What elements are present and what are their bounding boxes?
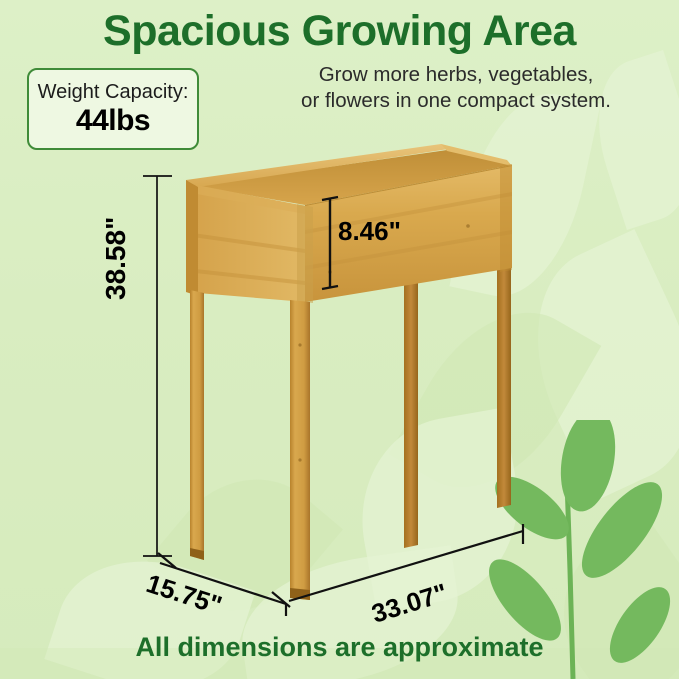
dimension-line-box-depth xyxy=(322,197,338,289)
weight-capacity-badge: Weight Capacity: 44lbs xyxy=(27,68,199,150)
dimension-label-height: 38.58" xyxy=(100,217,132,300)
weight-capacity-value: 44lbs xyxy=(76,104,150,138)
dimension-label-width-front: 33.07" xyxy=(368,577,451,629)
infographic-canvas: Spacious Growing Area Grow more herbs, v… xyxy=(0,0,679,679)
page-title: Spacious Growing Area xyxy=(0,6,679,56)
footer-note: All dimensions are approximate xyxy=(0,632,679,663)
dimension-line-height xyxy=(143,176,172,556)
subtitle: Grow more herbs, vegetables, or flowers … xyxy=(236,62,676,114)
dimension-label-box-depth: 8.46" xyxy=(338,216,401,247)
subtitle-line-2: or flowers in one compact system. xyxy=(236,88,676,114)
planter-front-panel xyxy=(305,166,512,302)
planter-rim xyxy=(186,144,512,196)
planter-box-interior xyxy=(196,150,512,222)
planter-front-legs xyxy=(190,290,310,600)
subtitle-line-1: Grow more herbs, vegetables, xyxy=(236,62,676,88)
weight-capacity-label: Weight Capacity: xyxy=(38,80,189,104)
planter-left-panel xyxy=(186,183,305,302)
dimension-label-width-side: 15.75" xyxy=(142,568,225,621)
